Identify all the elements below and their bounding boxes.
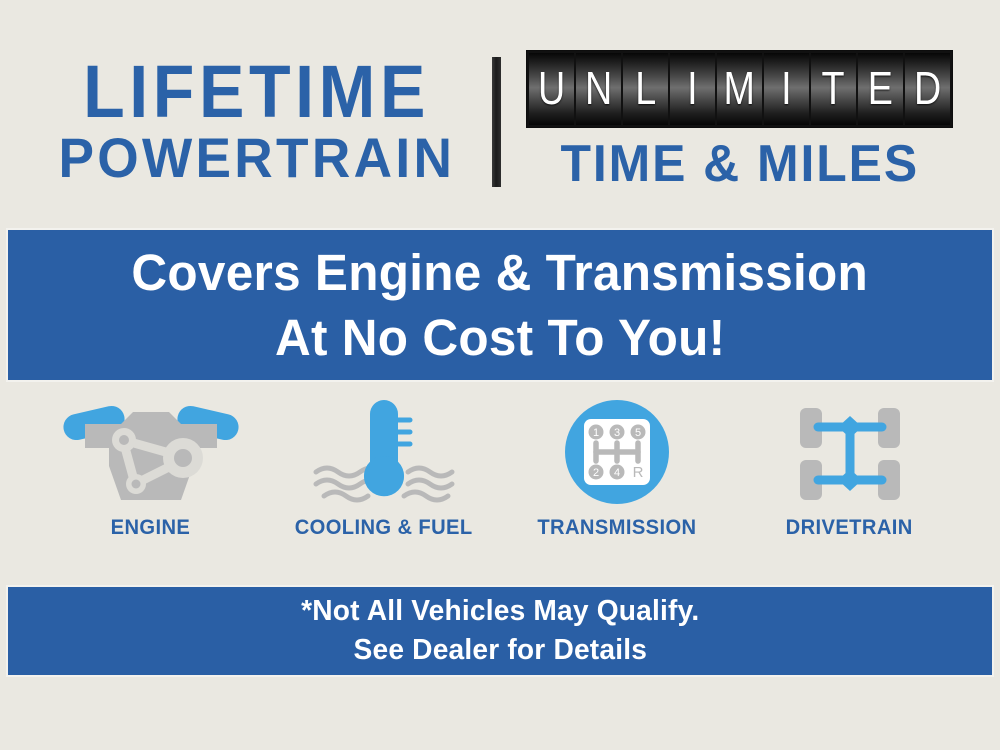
odometer-letter: U [538, 65, 565, 111]
headline-powertrain: POWERTRAIN [59, 129, 456, 188]
odometer-letter: L [635, 65, 656, 111]
feature-engine: ENGINE [43, 398, 258, 540]
engine-icon [61, 398, 241, 510]
headline-lifetime: LIFETIME [84, 56, 431, 127]
vertical-divider [492, 57, 501, 187]
odometer-letter: N [585, 65, 612, 111]
odometer-tile: I [670, 53, 715, 125]
odometer-letter: I [687, 65, 697, 111]
odometer-display: UNLIMITED [527, 51, 952, 127]
odometer-tile: E [858, 53, 903, 125]
feature-label-cooling-fuel: COOLING & FUEL [295, 516, 473, 540]
gear-shifter-icon: 1 3 5 2 4 R [527, 398, 707, 510]
odometer-letter: I [781, 65, 791, 111]
feature-transmission: 1 3 5 2 4 R TRANSMISSI [509, 398, 724, 540]
odometer-tile: I [764, 53, 809, 125]
feature-label-drivetrain: DRIVETRAIN [786, 516, 913, 540]
odometer-letter: M [724, 65, 755, 111]
header: LIFETIME POWERTRAIN UNLIMITED TIME & MIL… [0, 34, 1000, 209]
odometer-tile: T [811, 53, 856, 125]
feature-cooling-fuel: COOLING & FUEL [276, 398, 491, 540]
shifter-gear-4: 4 [613, 467, 619, 479]
shifter-gear-1: 1 [592, 427, 598, 439]
disclaimer-line-1: *Not All Vehicles May Qualify. [301, 592, 699, 631]
disclaimer-banner: *Not All Vehicles May Qualify. See Deale… [6, 585, 994, 677]
lifetime-powertrain-poster: LIFETIME POWERTRAIN UNLIMITED TIME & MIL… [0, 0, 1000, 750]
thermometer-icon [294, 398, 474, 510]
feature-drivetrain: DRIVETRAIN [742, 398, 957, 540]
headline-time-and-miles: TIME & MILES [560, 137, 919, 192]
odometer-tile: L [623, 53, 668, 125]
header-title-block: LIFETIME POWERTRAIN [48, 56, 492, 188]
main-banner: Covers Engine & Transmission At No Cost … [6, 228, 994, 382]
disclaimer-line-2: See Dealer for Details [353, 631, 647, 670]
shifter-gear-2: 2 [592, 467, 598, 479]
odometer-tile: M [717, 53, 762, 125]
drivetrain-icon [760, 398, 940, 510]
feature-label-transmission: TRANSMISSION [537, 516, 696, 540]
odometer-letter: D [914, 65, 941, 111]
main-banner-line-1: Covers Engine & Transmission [132, 240, 869, 305]
feature-icon-row: ENGINE [0, 398, 1000, 573]
shifter-gear-5: 5 [634, 427, 640, 439]
feature-label-engine: ENGINE [111, 516, 191, 540]
header-unlimited-block: UNLIMITED TIME & MILES [501, 51, 952, 192]
shifter-gear-r: R [632, 464, 643, 481]
main-banner-line-2: At No Cost To You! [275, 305, 725, 370]
odometer-tile: D [905, 53, 950, 125]
odometer-letter: E [868, 65, 893, 111]
odometer-letter: T [822, 65, 845, 111]
odometer-tile: N [576, 53, 621, 125]
odometer-tile: U [529, 53, 574, 125]
shifter-gear-3: 3 [613, 427, 619, 439]
